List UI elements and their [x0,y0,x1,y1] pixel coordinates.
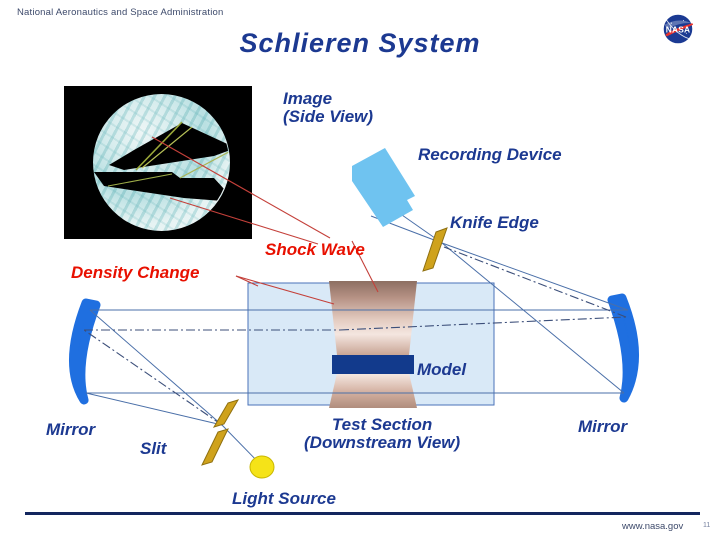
label-mirror-left: Mirror [46,421,95,439]
model-bar-icon [332,355,414,374]
label-image-line2: (Side View) [283,107,373,126]
knife-edge-icon [423,228,447,271]
label-recording-device: Recording Device [418,146,562,164]
footer-divider [25,512,700,515]
label-knife-edge: Knife Edge [450,214,539,232]
label-image-line1: Image [283,89,332,108]
footer-url: www.nasa.gov [622,521,683,532]
concave-mirror-left-icon [73,303,96,400]
page-number: 11 [703,522,710,529]
concave-mirror-right-icon [612,298,635,398]
label-test-section-line1: Test Section [332,415,432,434]
light-bulb-icon [250,456,274,478]
label-mirror-right: Mirror [578,418,627,436]
density-gradient-icon [329,281,417,408]
label-image-side-view: Image (Side View) [283,90,373,127]
slit-icon [202,400,238,465]
label-test-section: Test Section (Downstream View) [304,416,460,453]
label-density-change: Density Change [71,264,199,282]
camera-icon [352,148,415,227]
label-light-source: Light Source [232,490,336,508]
label-slit: Slit [140,440,166,458]
label-test-section-line2: (Downstream View) [304,433,460,452]
label-model: Model [417,361,466,379]
slide-canvas: National Aeronautics and Space Administr… [0,0,720,540]
label-shock-wave: Shock Wave [265,241,365,259]
